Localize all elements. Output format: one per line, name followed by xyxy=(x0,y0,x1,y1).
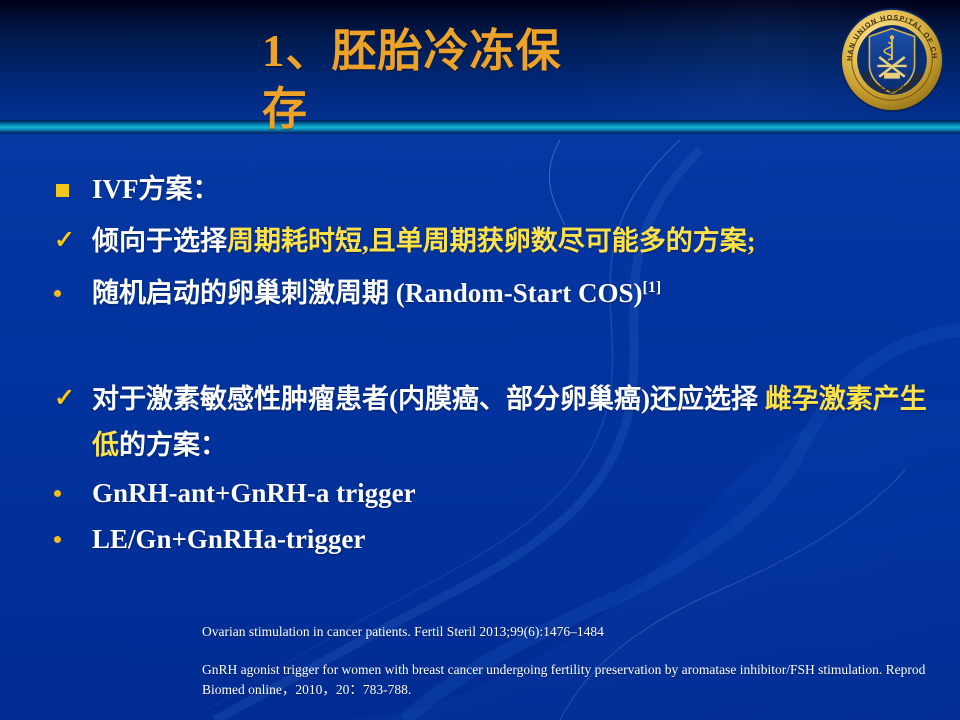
bullet-text: 倾向于选择 xyxy=(92,226,227,256)
reference-superscript: [1] xyxy=(643,279,662,296)
footnote-references: Ovarian stimulation in cancer patients. … xyxy=(202,622,942,700)
list-item: ✓ 对于激素敏感性肿瘤患者(内膜癌、部分卵巢癌)还应选择 雌孕激素产生低的方案： xyxy=(0,376,960,468)
bullet-text: 对于激素敏感性肿瘤患者(内膜癌、部分卵巢癌)还应选择 xyxy=(92,384,765,414)
list-item: GnRH-ant+GnRH-a trigger xyxy=(0,470,960,516)
slide-title-line1: 1、胚胎冷冻保 xyxy=(262,26,562,76)
check-bullet-icon: ✓ xyxy=(54,218,82,264)
square-bullet-icon xyxy=(56,166,84,212)
bullet-text-highlight: 周期耗时短,且单周期获卵数尽可能多的方案; xyxy=(227,226,756,256)
dot-bullet-icon xyxy=(54,470,82,516)
list-item: LE/Gn+GnRHa-trigger xyxy=(0,516,960,562)
svg-text:1866: 1866 xyxy=(887,79,898,85)
list-item: IVF方案： xyxy=(0,166,960,212)
list-item: ✓ 倾向于选择周期耗时短,且单周期获卵数尽可能多的方案; xyxy=(0,218,960,264)
bullet-text: GnRH-ant+GnRH-a trigger xyxy=(92,478,416,508)
check-bullet-icon: ✓ xyxy=(54,376,82,422)
slide-title: 1、胚胎冷冻保 存 xyxy=(262,22,692,138)
bullet-text: IVF方案： xyxy=(92,174,220,204)
bullet-text: 的方案： xyxy=(119,430,227,460)
dot-bullet-icon xyxy=(54,270,82,316)
dot-bullet-icon xyxy=(54,516,82,562)
slide-canvas: 1、胚胎冷冻保 存 1 xyxy=(0,0,960,720)
reference-2-line1: GnRH agonist trigger for women with brea… xyxy=(202,662,815,677)
list-item: 随机启动的卵巢刺激周期 (Random-Start COS)[1] xyxy=(0,270,960,316)
bullet-text: 随机启动的卵巢刺激周期 (Random-Start COS) xyxy=(92,278,643,308)
bullet-text: LE/Gn+GnRHa-trigger xyxy=(92,524,365,554)
reference-2: GnRH agonist trigger for women with brea… xyxy=(202,660,942,700)
reference-1: Ovarian stimulation in cancer patients. … xyxy=(202,622,942,642)
bullet-list: IVF方案： ✓ 倾向于选择周期耗时短,且单周期获卵数尽可能多的方案; 随机启动… xyxy=(0,140,960,562)
slide-title-line2: 存 xyxy=(262,84,308,134)
wuhan-union-hospital-logo: 1866 WUHAN UNION HOSPITAL OF CHINA 华中科技大… xyxy=(838,6,946,114)
